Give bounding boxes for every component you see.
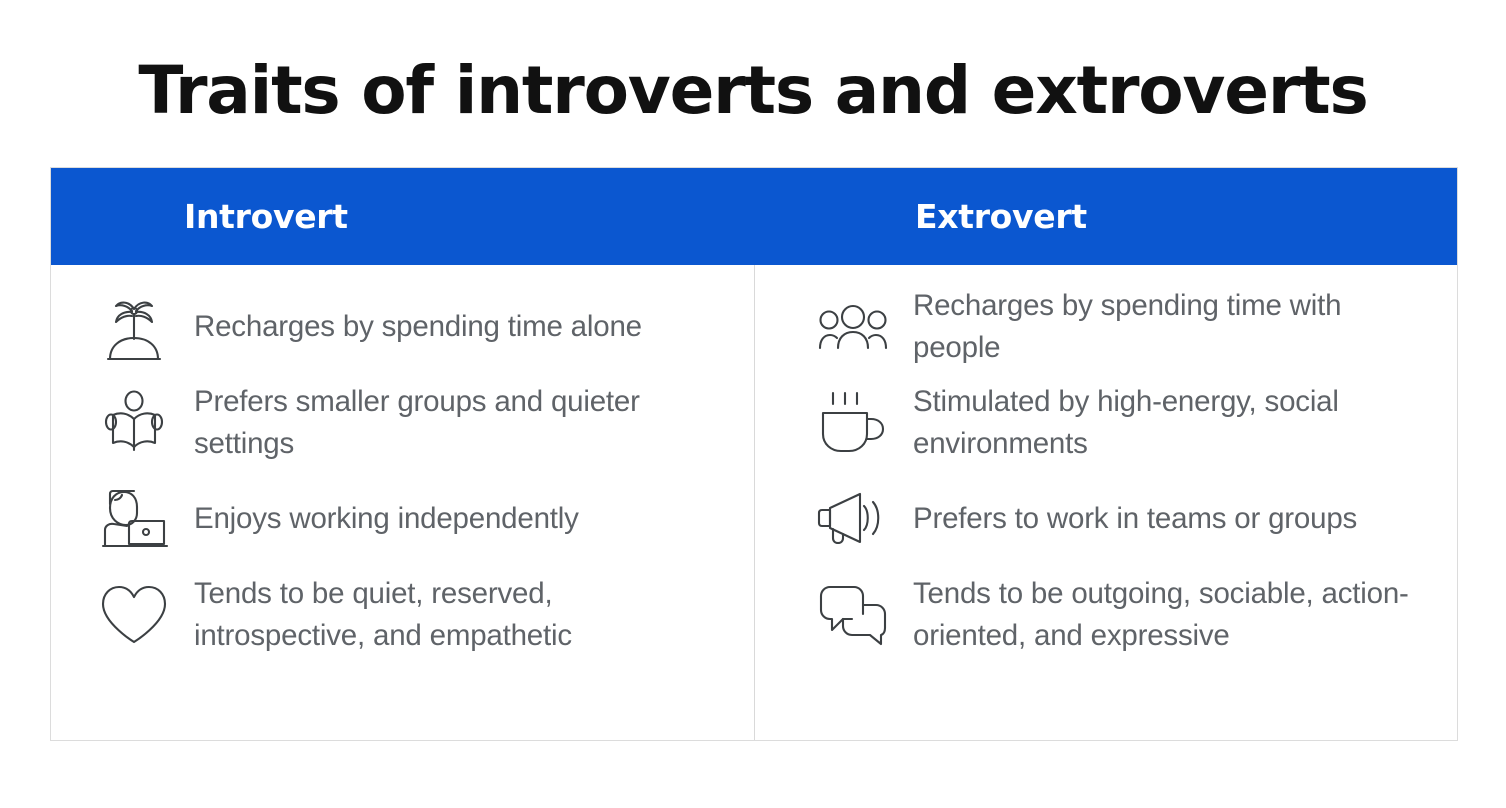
table-body: Recharges by spending time alone: [51, 265, 1457, 740]
heart-icon: [96, 577, 172, 653]
trait-text: Tends to be outgoing, sociable, action-o…: [913, 573, 1433, 657]
column-header-extrovert: Extrovert: [754, 168, 1457, 265]
trait-row: Tends to be quiet, reserved, introspecti…: [51, 567, 754, 663]
trait-text: Recharges by spending time with people: [913, 285, 1433, 369]
trait-row: Recharges by spending time alone: [51, 279, 754, 375]
speech-bubbles-icon: [815, 577, 891, 653]
coffee-cup-icon: [815, 385, 891, 461]
trait-text: Tends to be quiet, reserved, introspecti…: [194, 573, 714, 657]
palm-tree-island-icon: [96, 289, 172, 365]
person-at-laptop-icon: [96, 481, 172, 557]
trait-text: Prefers to work in teams or groups: [913, 498, 1357, 540]
comparison-table: Introvert Extrovert: [50, 167, 1458, 741]
trait-row: Stimulated by high-energy, social enviro…: [755, 375, 1457, 471]
column-header-introvert: Introvert: [51, 168, 754, 265]
table-header-row: Introvert Extrovert: [51, 168, 1457, 265]
trait-text: Recharges by spending time alone: [194, 306, 642, 348]
trait-row: Recharges by spending time with people: [755, 279, 1457, 375]
page-title: Traits of introverts and extroverts: [0, 52, 1506, 130]
extrovert-column: Recharges by spending time with people S…: [754, 265, 1457, 740]
trait-text: Stimulated by high-energy, social enviro…: [913, 381, 1433, 465]
trait-row: Prefers to work in teams or groups: [755, 471, 1457, 567]
trait-row: Tends to be outgoing, sociable, action-o…: [755, 567, 1457, 663]
person-reading-book-icon: [96, 385, 172, 461]
introvert-column: Recharges by spending time alone: [51, 265, 754, 740]
column-header-extrovert-label: Extrovert: [915, 197, 1087, 236]
group-of-people-icon: [815, 289, 891, 365]
trait-text: Prefers smaller groups and quieter setti…: [194, 381, 714, 465]
trait-text: Enjoys working independently: [194, 498, 579, 540]
column-header-introvert-label: Introvert: [184, 197, 348, 236]
megaphone-icon: [815, 481, 891, 557]
trait-row: Prefers smaller groups and quieter setti…: [51, 375, 754, 471]
trait-row: Enjoys working independently: [51, 471, 754, 567]
infographic-page: Traits of introverts and extroverts Intr…: [0, 0, 1506, 808]
